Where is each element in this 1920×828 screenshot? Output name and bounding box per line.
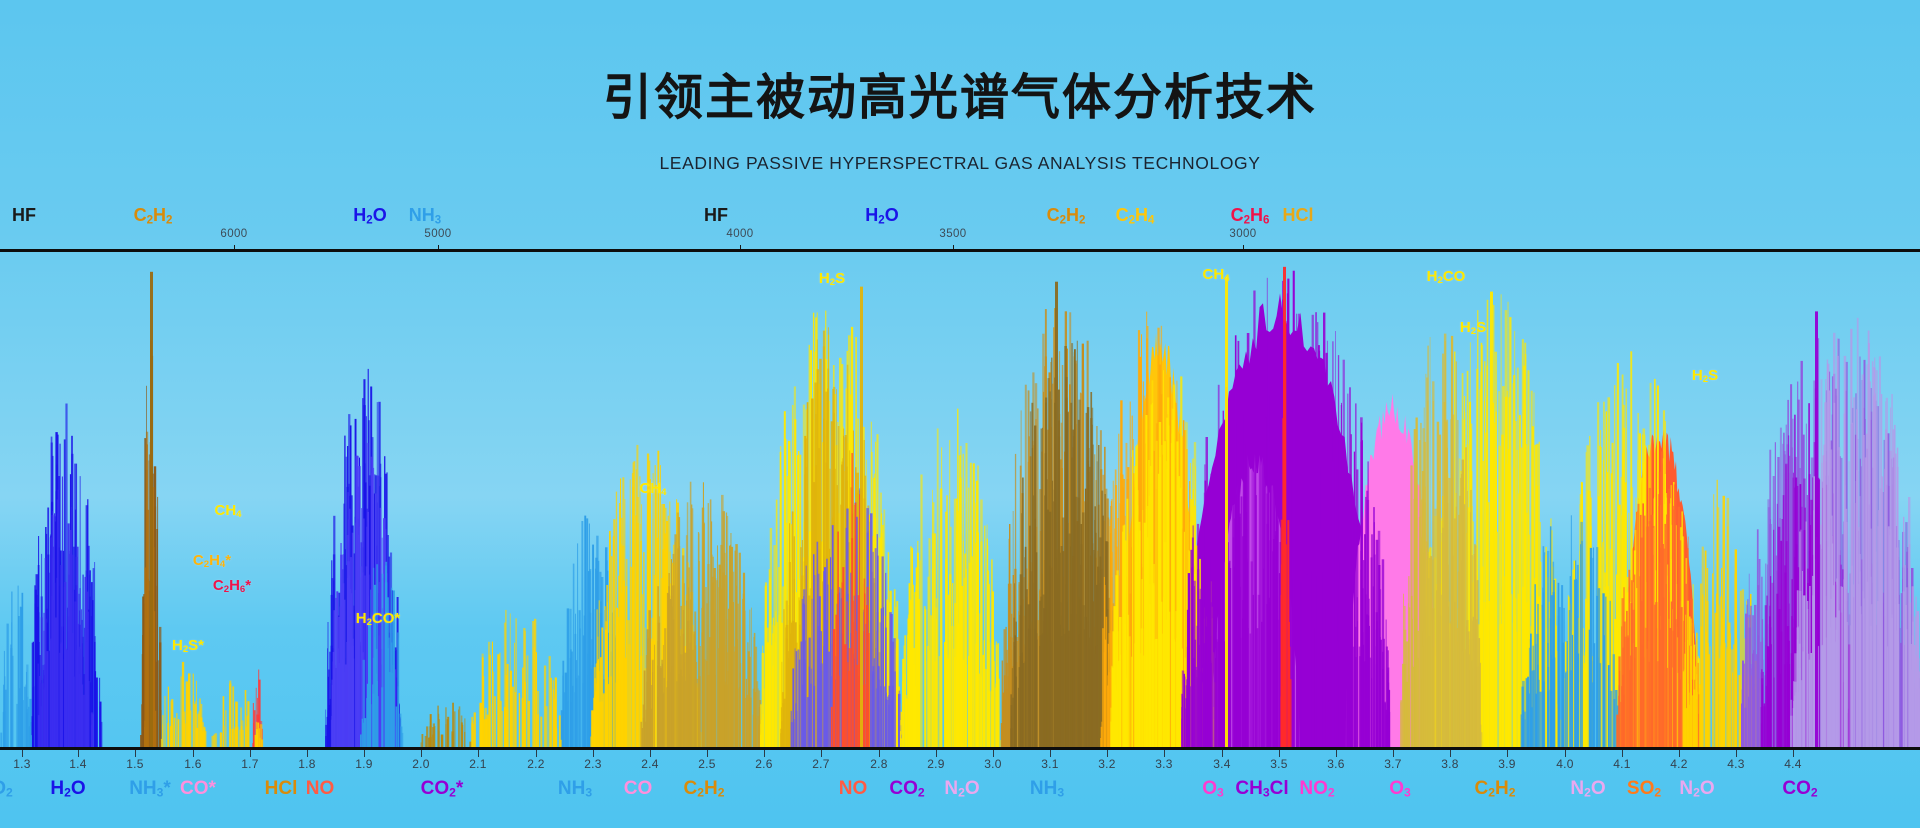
top-gas-label-hf: HF <box>704 205 728 226</box>
top-axis-tick-label: 3500 <box>939 228 966 240</box>
bottom-axis-tick-mark <box>1507 750 1508 757</box>
bottom-axis-tick-label: 3.2 <box>1098 757 1116 771</box>
bottom-axis-tick-label: 2.3 <box>584 757 602 771</box>
bottom-axis-tick-label: 2.9 <box>927 757 945 771</box>
top-gas-label-c2h2: C2H2 <box>1047 205 1086 227</box>
bottom-gas-label-nh3: NH3 <box>558 778 592 800</box>
bottom-axis-tick-label: 3.5 <box>1270 757 1288 771</box>
bottom-axis-tick-label: 2.8 <box>870 757 888 771</box>
bottom-axis-tick-mark <box>1164 750 1165 757</box>
bottom-gas-label-no: NO <box>839 778 868 800</box>
plot-gas-label-h2s: H2S <box>1460 319 1486 337</box>
bottom-gas-label-n2o: N2O <box>1679 778 1714 800</box>
spectrum-peak <box>1490 292 1493 747</box>
spectrum-peak <box>1283 267 1286 747</box>
bottom-axis-tick-mark <box>478 750 479 757</box>
top-gas-label-hcl: HCl <box>1283 205 1314 226</box>
top-axis-tick-label: 3000 <box>1229 228 1256 240</box>
bottom-axis-tick-label: 3.0 <box>984 757 1002 771</box>
plot-gas-label-h2s: H2S <box>819 270 845 288</box>
bottom-gas-label-c2h2: C2H2 <box>1475 778 1516 800</box>
bottom-axis-tick-mark <box>22 750 23 757</box>
bottom-axis-tick-label: 3.9 <box>1498 757 1516 771</box>
bottom-axis-tick-label: 4.3 <box>1727 757 1745 771</box>
spectrum-canvas <box>0 252 1920 747</box>
bottom-gas-label-hcl: HCl <box>265 778 298 800</box>
bottom-axis-tick-label: 3.6 <box>1327 757 1345 771</box>
plot-gas-label-h2sstar: H2S* <box>172 637 204 655</box>
bottom-axis-tick-label: 3.4 <box>1213 757 1231 771</box>
bottom-axis-tick-mark <box>1050 750 1051 757</box>
bottom-axis-tick-label: 1.3 <box>13 757 31 771</box>
bottom-axis-tick-label: 4.2 <box>1670 757 1688 771</box>
bottom-axis-tick-mark <box>1222 750 1223 757</box>
spectrum-peak <box>150 272 153 747</box>
bottom-axis-tick-mark <box>421 750 422 757</box>
bottom-gas-label-nh3star: NH3* <box>129 778 171 800</box>
bottom-axis-tick-label: 1.7 <box>241 757 259 771</box>
top-gas-label-c2h6: C2H6 <box>1231 205 1270 227</box>
bottom-axis-tick-mark <box>1336 750 1337 757</box>
bottom-axis-tick-mark <box>364 750 365 757</box>
plot-gas-label-h2s: H2S <box>1692 367 1718 385</box>
bottom-axis-tick-label: 1.6 <box>184 757 202 771</box>
bottom-axis-tick-label: 3.1 <box>1041 757 1059 771</box>
plot-gas-label-c2h6star: C2H6* <box>213 577 251 595</box>
bottom-axis-tick-label: 2.5 <box>698 757 716 771</box>
plot-gas-label-ch4: CH4 <box>639 480 666 498</box>
bottom-gas-label-o3: O3 <box>1202 778 1224 800</box>
bottom-gas-label-co: CO <box>624 778 653 800</box>
bottom-axis-tick-mark <box>1565 750 1566 757</box>
bottom-gas-label-costar: CO* <box>180 778 216 800</box>
top-axis-group: 60005000400035003000HFC2H2H2ONH3HFH2OC2H… <box>0 0 1920 252</box>
bottom-gas-label-c2h2: C2H2 <box>684 778 725 800</box>
bottom-axis-group: 1.31.41.51.61.71.81.92.02.12.22.32.42.52… <box>0 750 1920 828</box>
bottom-axis-tick-mark <box>78 750 79 757</box>
bottom-axis-tick-mark <box>879 750 880 757</box>
bottom-axis-tick-mark <box>993 750 994 757</box>
top-axis-tick-label: 5000 <box>424 228 451 240</box>
bottom-axis-tick-mark <box>650 750 651 757</box>
bottom-axis-tick-mark <box>1393 750 1394 757</box>
bottom-axis-tick-label: 3.8 <box>1441 757 1459 771</box>
top-gas-label-hf: HF <box>12 205 36 226</box>
bottom-axis-tick-label: 4.1 <box>1613 757 1631 771</box>
spectrum-line-group <box>900 409 1002 747</box>
bottom-axis-tick-mark <box>1736 750 1737 757</box>
bottom-axis-tick-label: 2.6 <box>755 757 773 771</box>
bottom-axis-tick-label: 2.4 <box>641 757 659 771</box>
bottom-axis-tick-label: 2.7 <box>812 757 830 771</box>
bottom-axis-tick-mark <box>764 750 765 757</box>
bottom-axis-tick-label: 1.4 <box>69 757 87 771</box>
top-axis-tick-label: 6000 <box>220 228 247 240</box>
bottom-axis-tick-label: 3.7 <box>1384 757 1402 771</box>
bottom-axis-tick-label: 2.1 <box>469 757 487 771</box>
bottom-gas-label-n2o: N2O <box>1570 778 1605 800</box>
top-gas-label-c2h4: C2H4 <box>1116 205 1155 227</box>
bottom-gas-label-nh3: NH3 <box>1030 778 1064 800</box>
bottom-axis-tick-label: 4.0 <box>1556 757 1574 771</box>
top-axis-tick-label: 4000 <box>726 228 753 240</box>
bottom-gas-label-n2o: N2O <box>944 778 979 800</box>
bottom-axis-tick-mark <box>593 750 594 757</box>
bottom-axis-tick-mark <box>1622 750 1623 757</box>
spectrum-line-group <box>471 610 561 747</box>
top-gas-label-h2o: H2O <box>353 205 386 227</box>
bottom-gas-label-ch3cl: CH3Cl <box>1235 778 1288 800</box>
spectrum-line-group <box>161 662 207 747</box>
bottom-gas-label-o2: O2 <box>0 778 13 800</box>
spectrum-peak <box>1225 277 1228 747</box>
bottom-axis-tick-label: 2.2 <box>527 757 545 771</box>
bottom-axis-tick-mark <box>1450 750 1451 757</box>
spectrum-peak <box>1055 282 1058 747</box>
top-gas-label-c2h2: C2H2 <box>134 205 173 227</box>
bottom-axis-tick-label: 1.9 <box>355 757 373 771</box>
bottom-gas-label-h2o: H2O <box>50 778 85 800</box>
spectrum-line-group <box>0 586 32 747</box>
bottom-axis-tick-mark <box>1793 750 1794 757</box>
bottom-axis-tick-mark <box>135 750 136 757</box>
bottom-gas-label-co2star: CO2* <box>421 778 464 800</box>
bottom-axis-tick-mark <box>821 750 822 757</box>
bottom-axis-tick-mark <box>936 750 937 757</box>
bottom-axis-tick-label: 1.5 <box>126 757 144 771</box>
plot-gas-label-ch4: CH4 <box>1202 266 1229 284</box>
bottom-axis-tick-mark <box>1279 750 1280 757</box>
plot-gas-label-h2costar: H2CO* <box>356 610 401 628</box>
bottom-gas-label-no: NO <box>306 778 335 800</box>
bottom-axis-tick-mark <box>1679 750 1680 757</box>
top-gas-label-nh3: NH3 <box>409 205 441 227</box>
top-gas-label-h2o: H2O <box>865 205 898 227</box>
bottom-gas-label-no2: NO2 <box>1299 778 1334 800</box>
bottom-axis-tick-mark <box>1107 750 1108 757</box>
plot-gas-label-ch4: CH4 <box>214 502 241 520</box>
bottom-axis-tick-mark <box>250 750 251 757</box>
bottom-axis-tick-mark <box>307 750 308 757</box>
spectrum-line-group <box>421 703 472 747</box>
bottom-axis-tick-mark <box>707 750 708 757</box>
spectrum-plot: H2SCH4H2COH2SH2SCH4CH4C2H4*C2H6*H2S*H2CO… <box>0 252 1920 747</box>
plot-gas-label-c2h4star: C2H4* <box>193 552 231 570</box>
bottom-axis-tick-label: 1.8 <box>298 757 316 771</box>
bottom-axis-tick-label: 2.0 <box>412 757 430 771</box>
bottom-axis-tick-label: 4.4 <box>1784 757 1802 771</box>
bottom-gas-label-co2: CO2 <box>889 778 924 800</box>
bottom-axis-tick-mark <box>536 750 537 757</box>
bottom-axis-tick-label: 3.3 <box>1155 757 1173 771</box>
bottom-gas-label-o3: O3 <box>1389 778 1411 800</box>
plot-gas-label-h2co: H2CO <box>1427 268 1466 286</box>
bottom-gas-label-so2: SO2 <box>1627 778 1661 800</box>
spectrum-peak <box>860 287 863 747</box>
spectrum-peak <box>1815 311 1818 747</box>
bottom-gas-label-co2: CO2 <box>1782 778 1817 800</box>
bottom-axis-tick-mark <box>193 750 194 757</box>
